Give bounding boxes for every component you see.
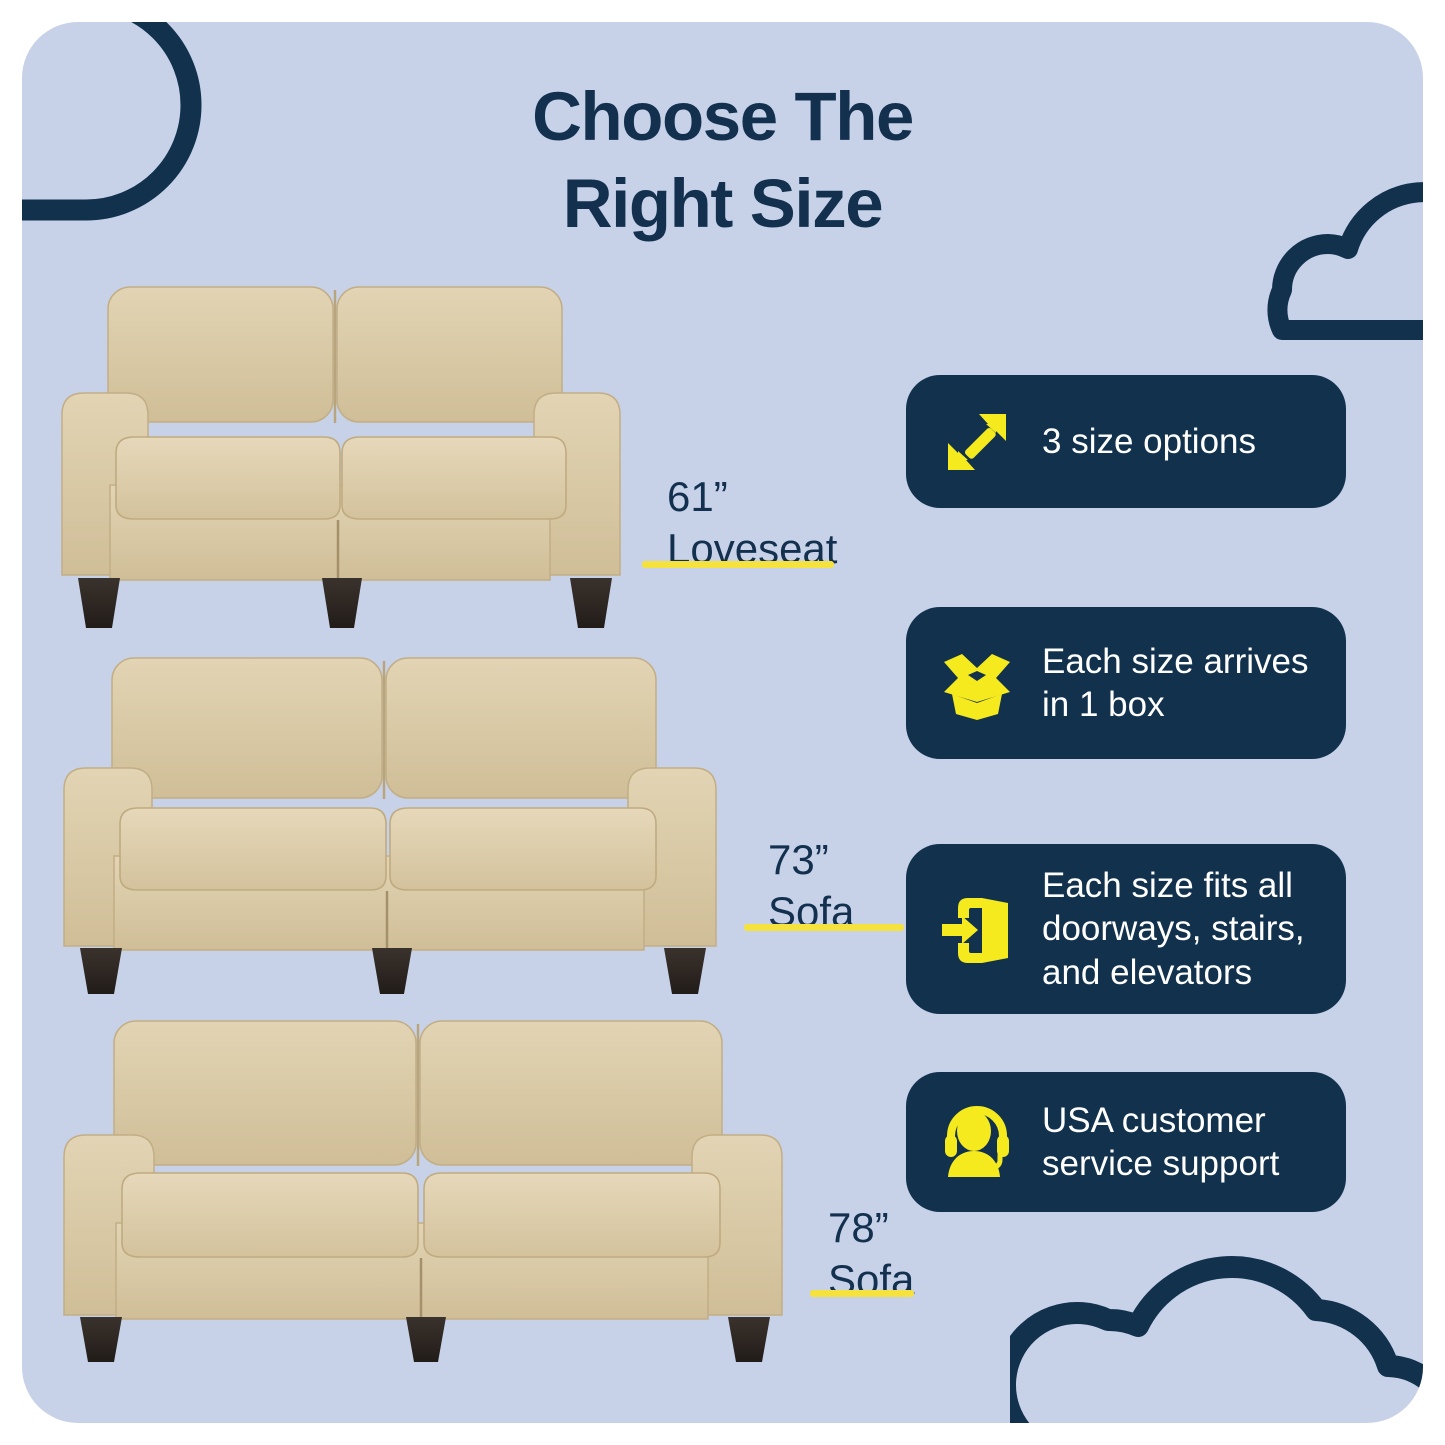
resize-arrows-icon bbox=[938, 403, 1016, 481]
size-label-measure: 78” bbox=[828, 1202, 914, 1254]
product-row-sofa-78 bbox=[50, 1007, 850, 1362]
size-underline-sofa-78 bbox=[810, 1290, 914, 1297]
size-label-measure: 61” bbox=[667, 471, 837, 523]
feature-card-customer-support[interactable]: USA customer service support bbox=[906, 1072, 1346, 1212]
infographic-canvas: Choose The Right Size bbox=[0, 0, 1445, 1445]
size-label-measure: 73” bbox=[768, 834, 854, 886]
size-underline-loveseat bbox=[642, 561, 834, 568]
size-label-kind: Sofa bbox=[828, 1254, 914, 1306]
product-row-sofa-73 bbox=[50, 644, 770, 994]
page-title-line-2: Right Size bbox=[22, 161, 1423, 248]
feature-label: USA customer service support bbox=[1042, 1099, 1279, 1186]
feature-label: Each size arrives in 1 box bbox=[1042, 640, 1308, 727]
sofa-73-inch-image bbox=[50, 644, 770, 994]
infographic-card: Choose The Right Size bbox=[22, 22, 1423, 1423]
doorway-enter-icon bbox=[938, 890, 1016, 968]
size-label-sofa-73: 73” Sofa bbox=[768, 834, 854, 938]
feature-label: Each size fits all doorways, stairs, and… bbox=[1042, 864, 1305, 994]
headset-support-icon bbox=[938, 1103, 1016, 1181]
page-title-line-1: Choose The bbox=[22, 74, 1423, 161]
feature-card-fits-doorways[interactable]: Each size fits all doorways, stairs, and… bbox=[906, 844, 1346, 1014]
loveseat-61-inch-image bbox=[50, 275, 670, 630]
product-row-loveseat bbox=[50, 275, 670, 630]
sofa-78-inch-image bbox=[50, 1007, 850, 1362]
cloud-bottom-right-icon bbox=[1010, 1240, 1423, 1423]
page-title: Choose The Right Size bbox=[22, 74, 1423, 248]
feature-card-one-box[interactable]: Each size arrives in 1 box bbox=[906, 607, 1346, 759]
open-box-icon bbox=[938, 644, 1016, 722]
size-underline-sofa-73 bbox=[744, 924, 904, 931]
size-label-loveseat: 61” Loveseat bbox=[667, 471, 837, 575]
feature-card-size-options[interactable]: 3 size options bbox=[906, 375, 1346, 508]
feature-label: 3 size options bbox=[1042, 420, 1256, 463]
